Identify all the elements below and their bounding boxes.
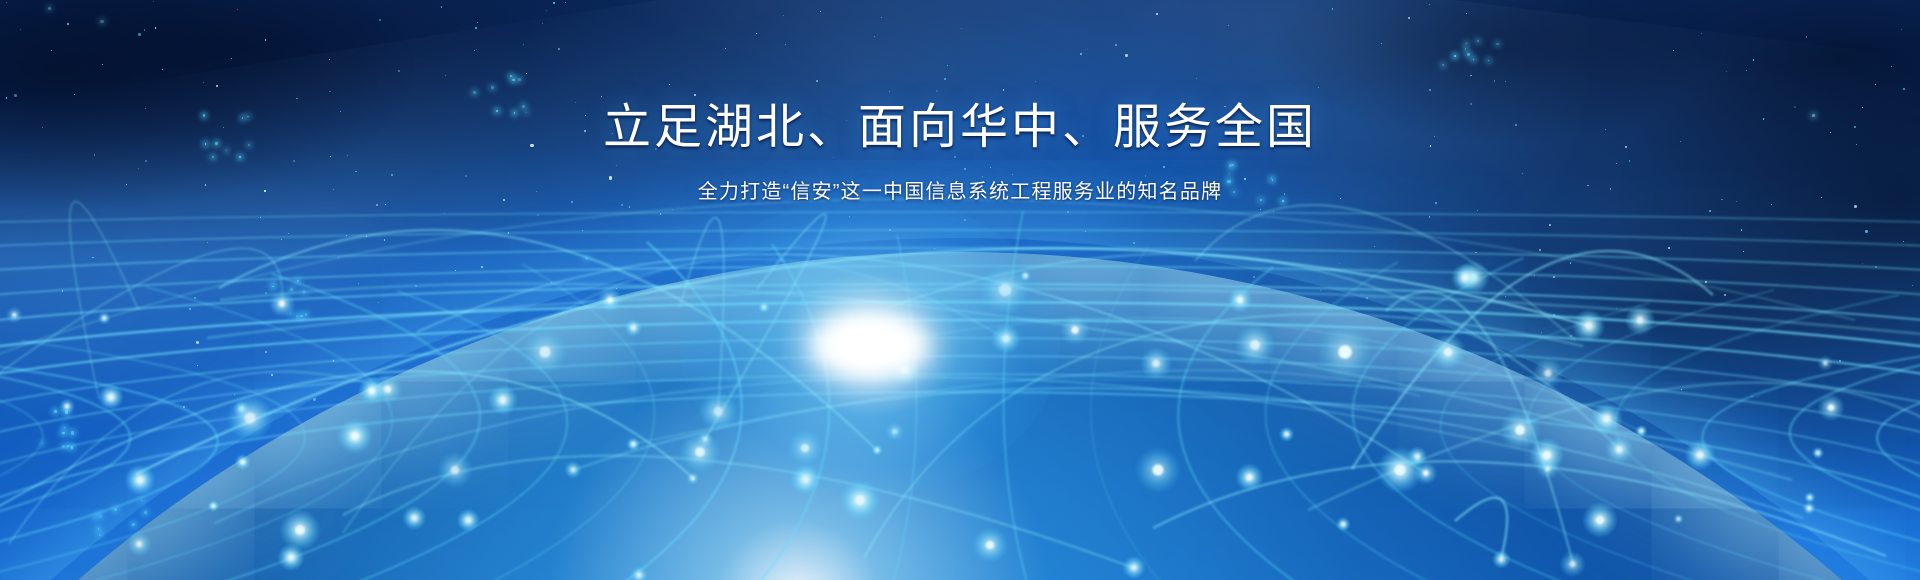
hero-banner: 立足湖北、面向华中、服务全国 全力打造“信安”这一中国信息系统工程服务业的知名品… [0,0,1920,580]
